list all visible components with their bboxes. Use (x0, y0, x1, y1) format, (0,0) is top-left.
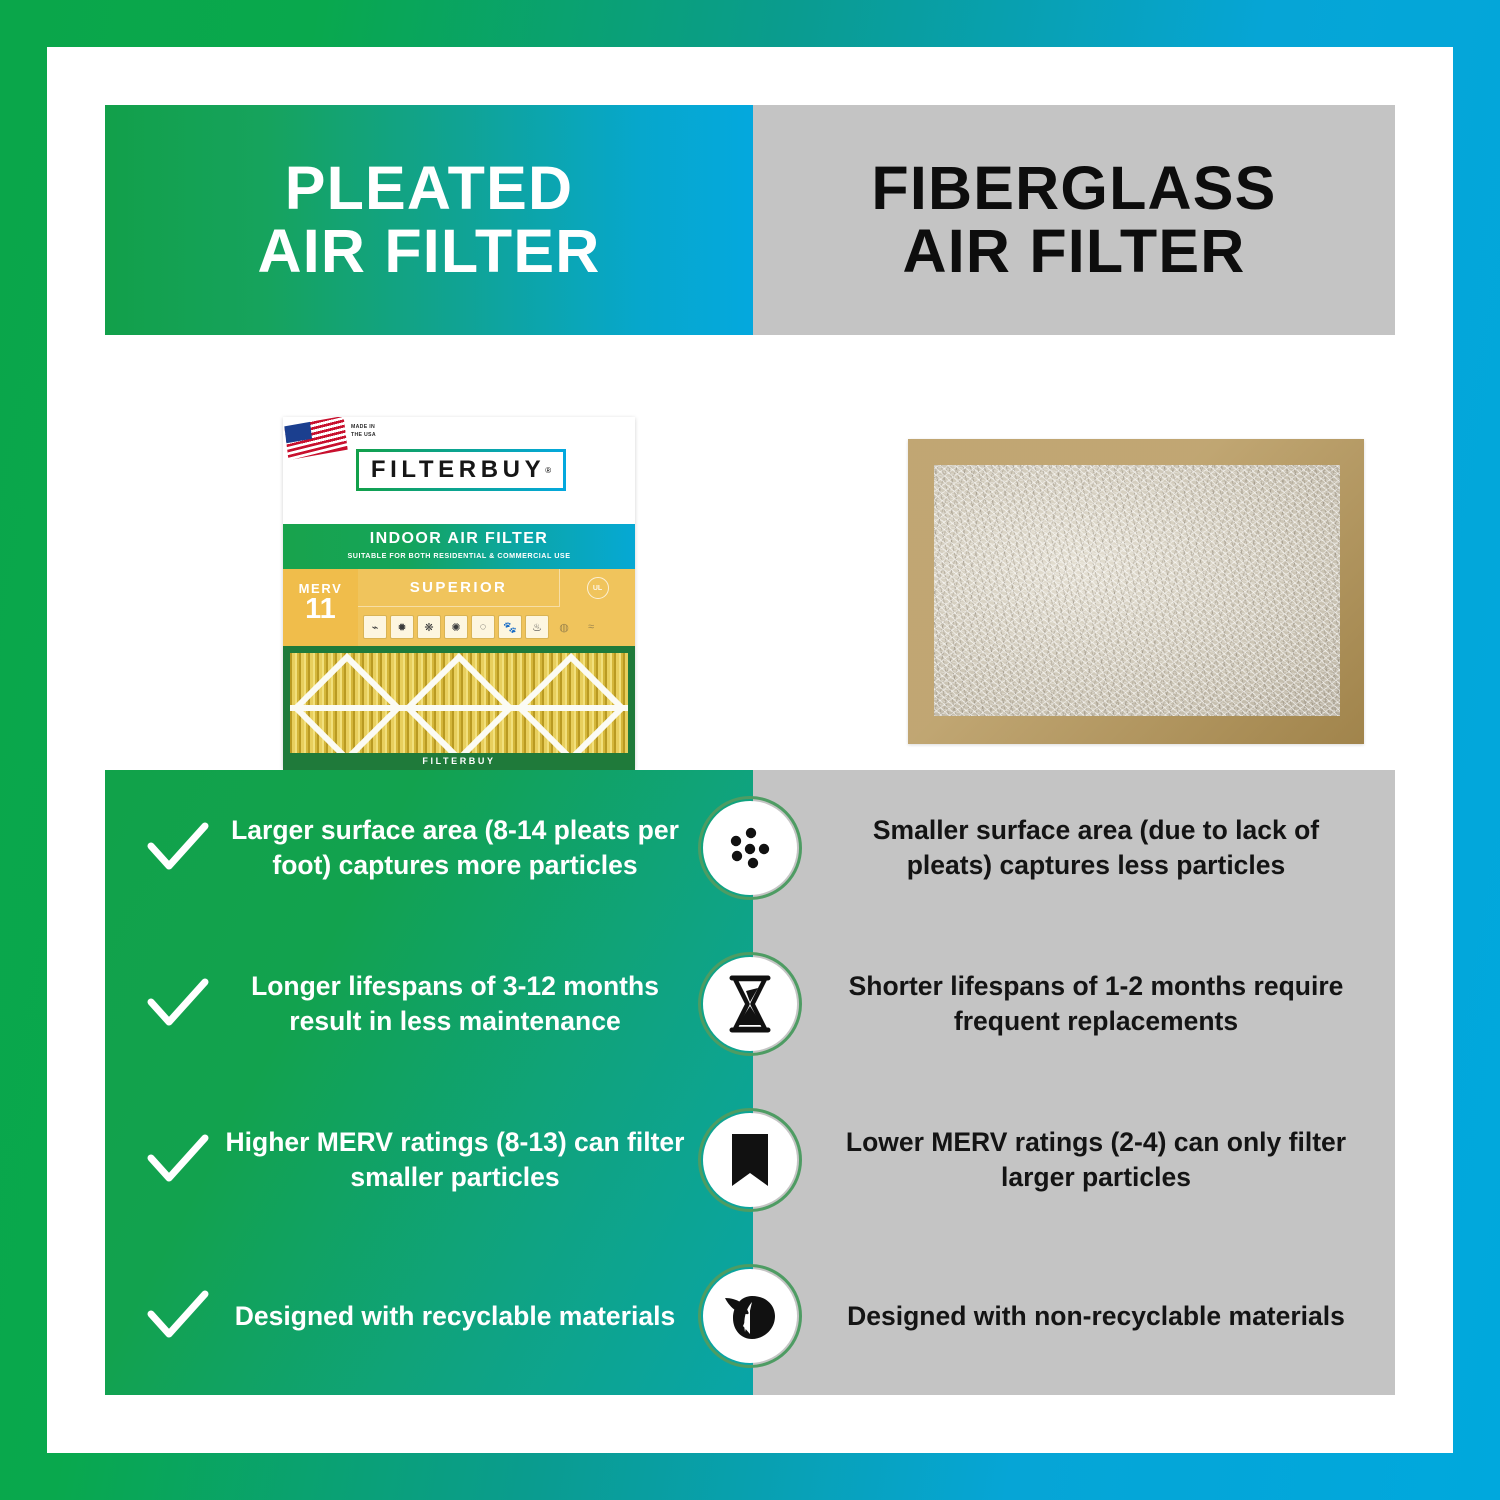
header-row: PLEATED AIR FILTER FIBERGLASS AIR FILTER (105, 105, 1395, 335)
row-left-cell: Longer lifespans of 3-12 months result i… (105, 926, 753, 1082)
fiberglass-media-texture (934, 465, 1340, 716)
bacteria-icon: ◌ (471, 615, 495, 639)
row-right-cell: Lower MERV ratings (2-4) can only filter… (753, 1082, 1395, 1238)
pill-icon: ◍ (552, 615, 576, 639)
support-diamond-2 (404, 653, 514, 762)
row-right-cell: Smaller surface area (due to lack of ple… (753, 770, 1395, 926)
row-left-cell: Higher MERV ratings (8-13) can filter sm… (105, 1082, 753, 1238)
merv-value: 11 (283, 596, 358, 624)
row-left-text: Higher MERV ratings (8-13) can filter sm… (221, 1125, 753, 1195)
leaf-icon (703, 1269, 797, 1363)
usa-flag-icon (284, 417, 347, 460)
row-right-text: Shorter lifespans of 1-2 months require … (753, 969, 1361, 1039)
comparison-row: Designed with recyclable materials Desig… (105, 1238, 1395, 1394)
row-right-cell: Designed with non-recyclable materials (753, 1238, 1395, 1394)
check-icon (135, 822, 221, 874)
feature-icon-strip: ⌁ ✹ ❋ ✺ ◌ 🐾 ♨ ◍ ≈ (363, 611, 629, 643)
banner-subtitle: SUITABLE FOR BOTH RESIDENTIAL & COMMERCI… (283, 548, 635, 560)
row-left-cell: Designed with recyclable materials (105, 1238, 753, 1394)
box-banner: INDOOR AIR FILTER SUITABLE FOR BOTH RESI… (283, 524, 635, 569)
box-body: MADE IN THE USA FILTERBUY® INDOOR AIR FI… (283, 417, 635, 769)
check-icon (135, 1290, 221, 1342)
check-icon (135, 978, 221, 1030)
page-canvas: PLEATED AIR FILTER FIBERGLASS AIR FILTER (47, 47, 1453, 1453)
row-left-text: Longer lifespans of 3-12 months result i… (221, 969, 753, 1039)
particles-icon (703, 801, 797, 895)
box-header-white: MADE IN THE USA FILTERBUY® (283, 417, 635, 524)
bookmark-icon (703, 1113, 797, 1207)
row-right-text: Lower MERV ratings (2-4) can only filter… (753, 1125, 1361, 1195)
support-diamond-1 (292, 653, 402, 762)
check-icon (135, 1134, 221, 1186)
row-left-text: Larger surface area (8-14 pleats per foo… (221, 813, 753, 883)
product-image-row: MADE IN THE USA FILTERBUY® INDOOR AIR FI… (105, 347, 1395, 765)
pleat-texture (290, 653, 628, 762)
comparison-row: Larger surface area (8-14 pleats per foo… (105, 770, 1395, 926)
pleated-media-visual: FILTERBUY (283, 646, 635, 769)
row-right-text: Smaller surface area (due to lack of ple… (753, 813, 1361, 883)
header-fiberglass: FIBERGLASS AIR FILTER (753, 105, 1395, 335)
row-left-cell: Larger surface area (8-14 pleats per foo… (105, 770, 753, 926)
fiberglass-filter-image (908, 439, 1364, 744)
ul-certification: UL (560, 569, 635, 607)
row-right-cell: Shorter lifespans of 1-2 months require … (753, 926, 1395, 1082)
smoke-icon: ♨ (525, 615, 549, 639)
mold-spore-icon: ✺ (444, 615, 468, 639)
box-spec-strip: MERV 11 SUPERIOR UL ⌁ ✹ ❋ ✺ ◌ (283, 569, 635, 646)
tier-label: SUPERIOR (358, 569, 560, 607)
pollen-icon: ❋ (417, 615, 441, 639)
header-fiberglass-line1: FIBERGLASS (871, 154, 1276, 222)
filterbuy-wordmark: FILTERBUY (371, 456, 545, 484)
merv-label: MERV (283, 569, 358, 596)
vacuum-icon: ⌁ (363, 615, 387, 639)
banner-title: INDOOR AIR FILTER (283, 524, 635, 548)
made-in-usa-text: MADE IN THE USA (351, 424, 376, 440)
header-pleated: PLEATED AIR FILTER (105, 105, 753, 335)
filterbuy-box-image: MADE IN THE USA FILTERBUY® INDOOR AIR FI… (283, 417, 648, 789)
pet-dander-icon: 🐾 (498, 615, 522, 639)
filterbuy-logo: FILTERBUY® (356, 449, 566, 491)
ul-mark-icon: UL (587, 577, 609, 599)
row-right-text: Designed with non-recyclable materials (753, 1299, 1361, 1334)
odor-icon: ≈ (579, 615, 603, 639)
comparison-row: Longer lifespans of 3-12 months result i… (105, 926, 1395, 1082)
header-fiberglass-line2: AIR FILTER (903, 217, 1246, 285)
merv-badge: MERV 11 (283, 569, 358, 646)
row-left-text: Designed with recyclable materials (221, 1299, 753, 1334)
dust-mite-icon: ✹ (390, 615, 414, 639)
support-diamond-3 (516, 653, 626, 762)
header-pleated-line2: AIR FILTER (258, 217, 601, 285)
comparison-row: Higher MERV ratings (8-13) can filter sm… (105, 1082, 1395, 1238)
registered-mark: ® (545, 466, 551, 475)
comparison-rows: Larger surface area (8-14 pleats per foo… (105, 770, 1395, 1395)
outer-gradient-frame: PLEATED AIR FILTER FIBERGLASS AIR FILTER (0, 0, 1500, 1500)
header-pleated-line1: PLEATED (285, 154, 574, 222)
hourglass-icon (703, 957, 797, 1051)
box-footer-brand: FILTERBUY (283, 753, 635, 770)
